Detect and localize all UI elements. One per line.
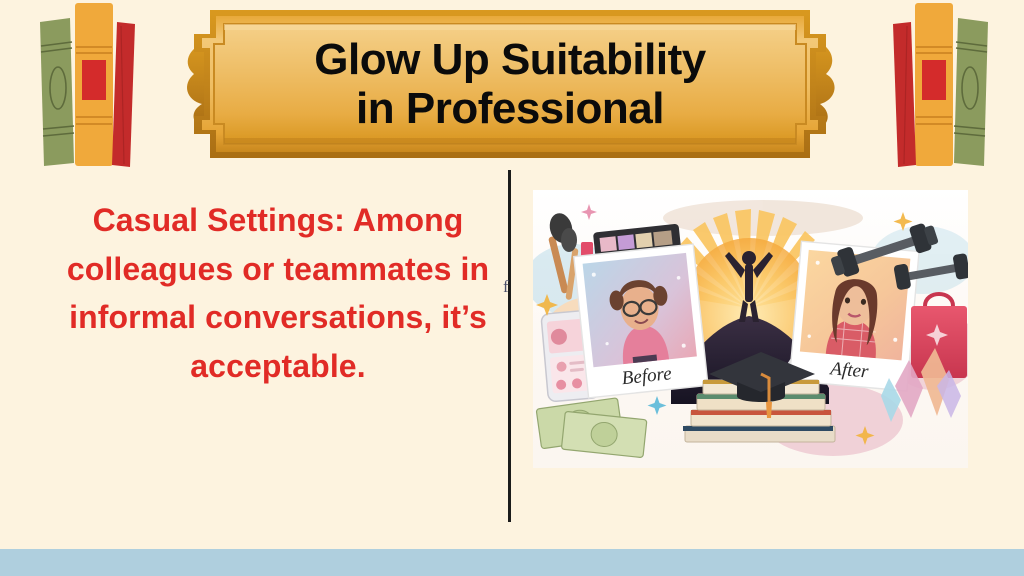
banner-title: Glow Up Suitability in Professional [180,4,840,164]
book-orange-right [915,3,953,166]
bottom-bar [0,549,1024,576]
books-stack-left [18,0,188,172]
glow-up-collage-image: Before [533,190,968,468]
book-orange-left [75,3,113,166]
book-red-left [112,22,135,167]
vertical-divider [508,170,511,522]
stray-character: f [503,277,509,297]
book-red-right [893,22,916,167]
title-banner: Glow Up Suitability in Professional [180,4,840,164]
banner-title-line-2: in Professional [356,84,664,133]
polaroid-before: Before [574,244,708,398]
slide-canvas: Glow Up Suitability in Professional Casu… [0,0,1024,576]
banner-title-line-1: Glow Up Suitability [314,35,705,84]
books-stack-right [840,0,1010,172]
polaroid-after-label: After [828,358,870,382]
book-green-left [40,18,74,166]
book-green-right [954,18,988,166]
body-text: Casual Settings: Among colleagues or tea… [58,196,498,391]
